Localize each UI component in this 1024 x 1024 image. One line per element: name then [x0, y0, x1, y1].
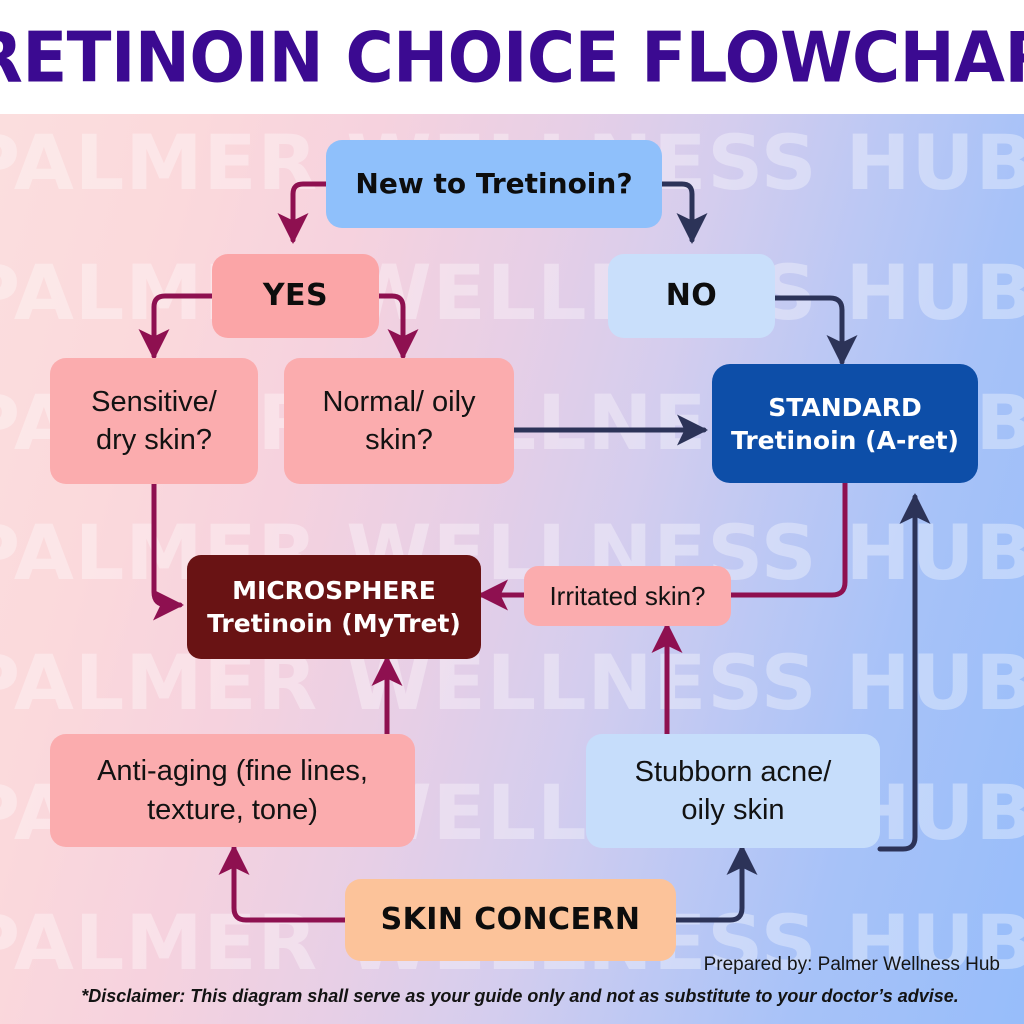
disclaimer-text: *Disclaimer: This diagram shall serve as… [0, 986, 1024, 1007]
node-new-to-tretinoin[interactable]: New to Tretinoin? [326, 140, 662, 228]
node-label-line1: Anti-aging (fine lines, [50, 752, 415, 790]
node-normal-oily-skin[interactable]: Normal/ oily skin? [284, 358, 514, 484]
flowchart-poster: TRETINOIN CHOICE FLOWCHART PALMER WELLNE… [0, 0, 1024, 1024]
page-title: TRETINOIN CHOICE FLOWCHART [0, 16, 1024, 98]
node-yes[interactable]: YES [212, 254, 379, 338]
node-label-line1: MICROSPHERE [187, 574, 481, 607]
title-banner: TRETINOIN CHOICE FLOWCHART [0, 0, 1024, 114]
node-label-line2: Tretinoin (A-ret) [712, 424, 978, 457]
node-label-line2: dry skin? [50, 421, 258, 459]
watermark-text: PALMER WELLNESS HUB [0, 248, 1024, 337]
node-label: YES [212, 276, 379, 316]
node-standard-tretinoin[interactable]: STANDARD Tretinoin (A-ret) [712, 364, 978, 483]
node-label-line1: Normal/ oily [284, 383, 514, 421]
node-stubborn-acne[interactable]: Stubborn acne/ oily skin [586, 734, 880, 848]
node-label-line2: Tretinoin (MyTret) [187, 607, 481, 640]
watermark-text: PALMER WELLNESS HUB [0, 638, 1024, 727]
node-label: Irritated skin? [524, 579, 731, 613]
node-sensitive-dry-skin[interactable]: Sensitive/ dry skin? [50, 358, 258, 484]
node-label-line2: oily skin [586, 791, 880, 829]
node-microsphere-tretinoin[interactable]: MICROSPHERE Tretinoin (MyTret) [187, 555, 481, 659]
node-label-line2: skin? [284, 421, 514, 459]
node-label: SKIN CONCERN [345, 900, 676, 940]
node-irritated-skin[interactable]: Irritated skin? [524, 566, 731, 626]
watermark-text: PALMER WELLNESS HUB [0, 508, 1024, 597]
node-anti-aging[interactable]: Anti-aging (fine lines, texture, tone) [50, 734, 415, 847]
node-label-line1: Sensitive/ [50, 383, 258, 421]
node-skin-concern[interactable]: SKIN CONCERN [345, 879, 676, 961]
node-label-line1: STANDARD [712, 391, 978, 424]
node-label: New to Tretinoin? [326, 166, 662, 203]
diagram-canvas: PALMER WELLNESS HUB PALMER WELLNESS HUB … [0, 114, 1024, 1024]
node-no[interactable]: NO [608, 254, 775, 338]
node-label-line2: texture, tone) [50, 791, 415, 829]
node-label: NO [608, 276, 775, 316]
prepared-by-credit: Prepared by: Palmer Wellness Hub [704, 954, 1000, 976]
node-label-line1: Stubborn acne/ [586, 753, 880, 791]
